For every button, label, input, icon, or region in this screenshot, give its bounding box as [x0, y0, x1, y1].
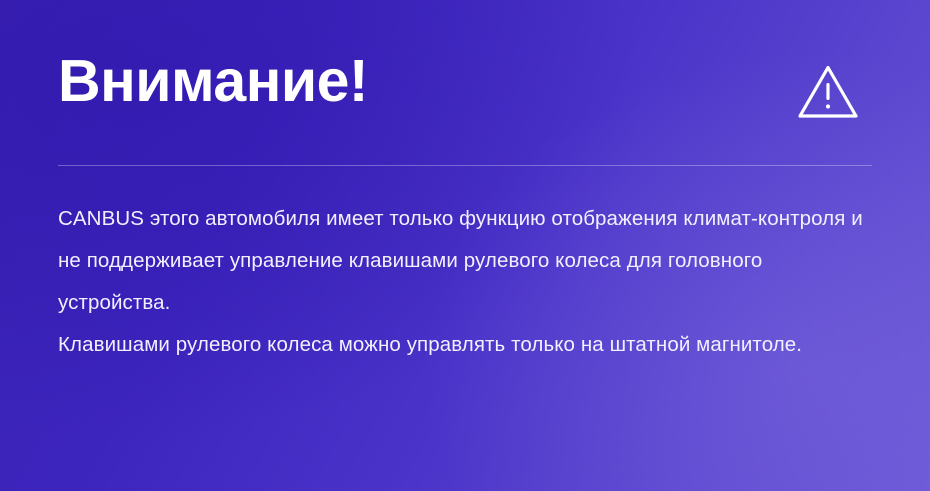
warning-paragraph-2: Клавишами рулевого колеса можно управлят…	[58, 324, 872, 366]
warning-paragraph-1: CANBUS этого автомобиля имеет только фун…	[58, 198, 872, 324]
header-divider	[58, 165, 872, 166]
warning-banner: Внимание! CANBUS этого автомобиля имеет …	[0, 0, 930, 491]
banner-header: Внимание!	[58, 52, 872, 127]
page-title: Внимание!	[58, 52, 368, 111]
warning-body: CANBUS этого автомобиля имеет только фун…	[58, 198, 872, 366]
banner-content: Внимание! CANBUS этого автомобиля имеет …	[0, 0, 930, 366]
warning-triangle-icon	[796, 62, 860, 127]
